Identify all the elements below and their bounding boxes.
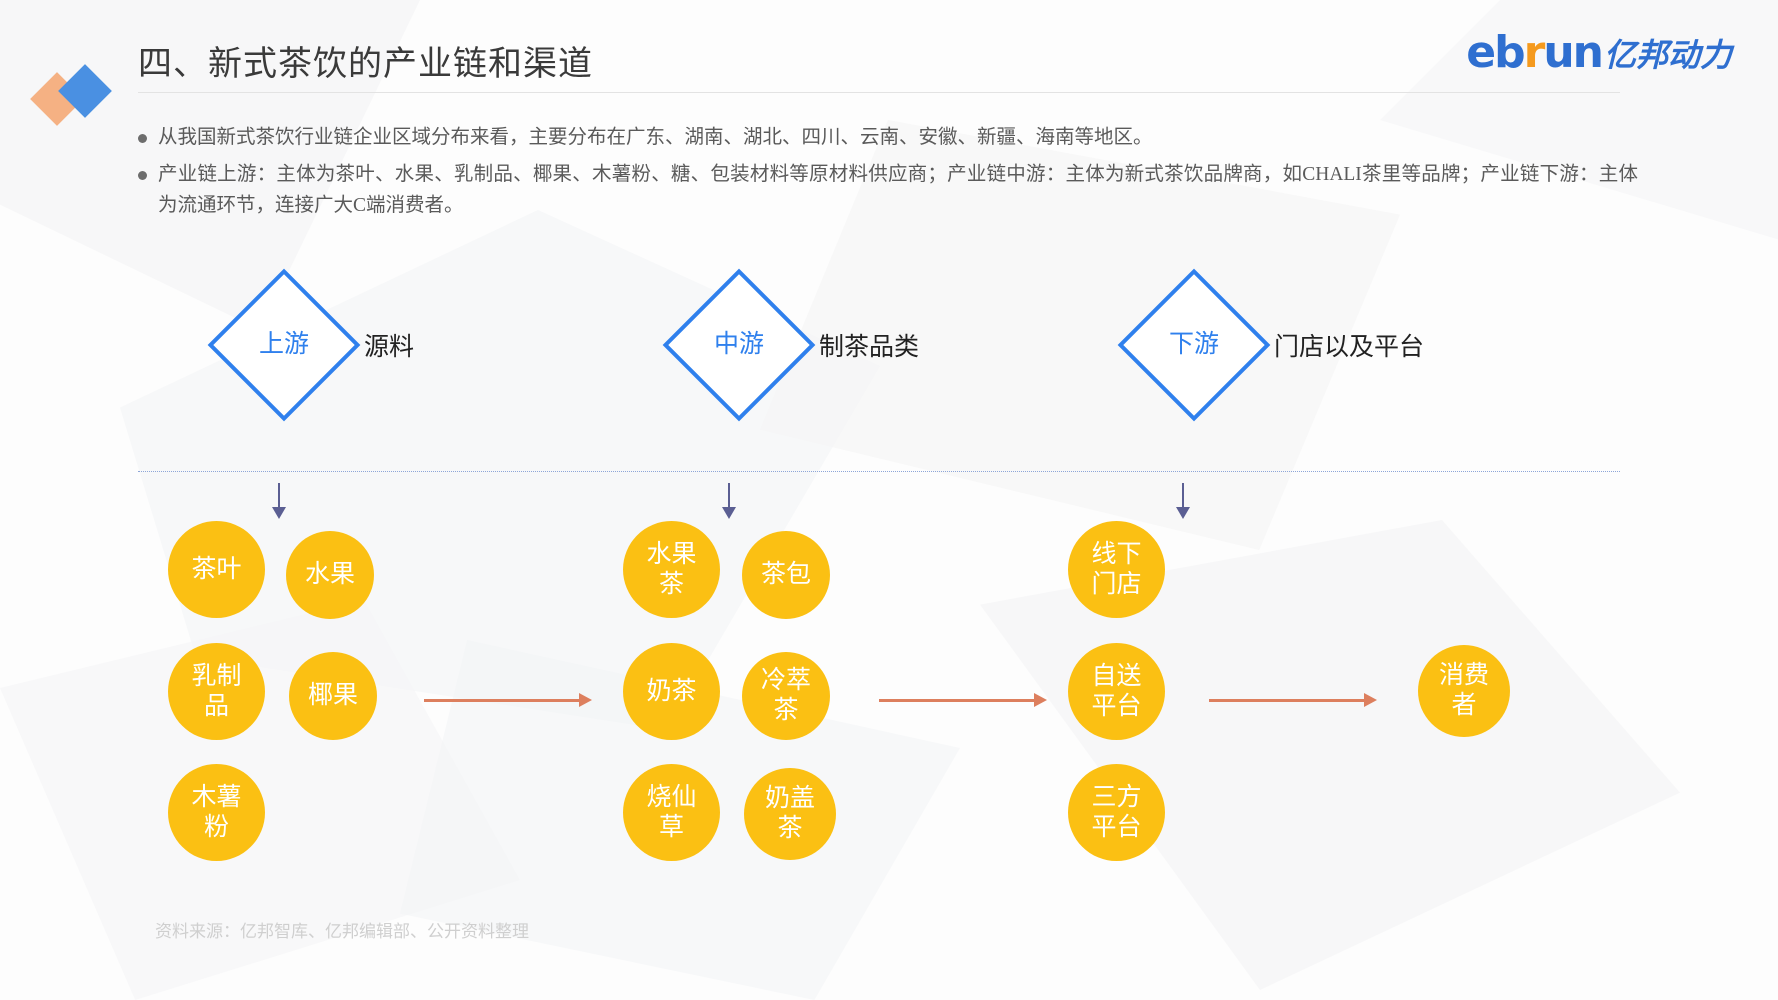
- stage-upstream: 上游 源料: [230, 291, 414, 399]
- list-item: 产业链上游：主体为茶叶、水果、乳制品、椰果、木薯粉、糖、包装材料等原材料供应商；…: [138, 159, 1638, 221]
- node-circle[interactable]: 茶叶: [168, 521, 265, 618]
- node-circle[interactable]: 水果茶: [623, 521, 720, 618]
- node-label: 自送平台: [1080, 662, 1154, 722]
- node-circle[interactable]: 奶茶: [623, 643, 720, 740]
- stage-label-downstream: 门店以及平台: [1274, 327, 1424, 363]
- node-label: 乳制品: [180, 662, 254, 722]
- node-circle[interactable]: 椰果: [289, 652, 377, 740]
- flow-arrow-downstream-to-consumer-icon: [1209, 694, 1377, 706]
- down-arrow-downstream-icon: [1176, 483, 1190, 519]
- node-label: 烧仙草: [635, 783, 709, 843]
- section-divider-dotted: [138, 471, 1620, 472]
- node-label: 三方平台: [1080, 783, 1154, 843]
- diamond-upstream-label: 上游: [239, 330, 329, 360]
- logo-text-un: un: [1543, 31, 1602, 75]
- stage-midstream: 中游 制茶品类: [685, 291, 919, 399]
- node-label: 消费者: [1427, 661, 1501, 721]
- node-label: 线下门店: [1080, 540, 1154, 600]
- node-circle[interactable]: 木薯粉: [168, 764, 265, 861]
- diamond-midstream-label: 中游: [694, 330, 784, 360]
- bullet-list: 从我国新式茶饮行业链企业区域分布来看，主要分布在广东、湖南、湖北、四川、云南、安…: [138, 122, 1638, 227]
- ebrun-logo: eb r un 亿邦动力: [1466, 28, 1732, 78]
- bullet-text: 产业链上游：主体为茶叶、水果、乳制品、椰果、木薯粉、糖、包装材料等原材料供应商；…: [158, 159, 1638, 221]
- diamond-upstream: 上游: [208, 269, 361, 422]
- node-circle[interactable]: 三方平台: [1068, 764, 1165, 861]
- decorative-diamonds: [26, 66, 126, 126]
- logo-text-r: r: [1524, 31, 1544, 75]
- node-circle[interactable]: 乳制品: [168, 643, 265, 740]
- bullet-dot-icon: [138, 171, 147, 180]
- node-label: 木薯粉: [180, 783, 254, 843]
- node-label: 水果: [293, 560, 367, 590]
- node-label: 水果茶: [635, 540, 709, 600]
- node-label: 茶叶: [180, 555, 254, 585]
- stage-downstream: 下游 门店以及平台: [1140, 291, 1424, 399]
- node-label: 奶茶: [635, 677, 709, 707]
- stage-diamond-row: 上游 源料 中游 制茶品类 下游 门店以及平台: [0, 255, 1778, 435]
- title-divider: [138, 92, 1620, 93]
- node-circle[interactable]: 烧仙草: [623, 764, 720, 861]
- down-arrow-midstream-icon: [722, 483, 736, 519]
- node-circle[interactable]: 自送平台: [1068, 643, 1165, 740]
- node-circle[interactable]: 奶盖茶: [744, 768, 836, 860]
- slide-canvas: 四、新式茶饮的产业链和渠道 eb r un 亿邦动力 从我国新式茶饮行业链企业区…: [0, 0, 1778, 1000]
- diamond-downstream: 下游: [1118, 269, 1271, 422]
- node-circle[interactable]: 茶包: [742, 531, 830, 619]
- bullet-dot-icon: [138, 134, 147, 143]
- node-label: 椰果: [296, 681, 370, 711]
- source-note: 资料来源：亿邦智库、亿邦编辑部、公开资料整理: [155, 917, 529, 942]
- node-label: 冷萃茶: [749, 666, 823, 726]
- diamond-downstream-label: 下游: [1149, 330, 1239, 360]
- node-circle[interactable]: 水果: [286, 531, 374, 619]
- node-circle-consumer[interactable]: 消费者: [1418, 645, 1510, 737]
- logo-text-eb: eb: [1466, 31, 1523, 75]
- stage-label-upstream: 源料: [364, 327, 414, 363]
- node-label: 茶包: [749, 560, 823, 590]
- page-title: 四、新式茶饮的产业链和渠道: [138, 36, 593, 85]
- logo-text-cn: 亿邦动力: [1604, 30, 1732, 76]
- down-arrow-upstream-icon: [272, 483, 286, 519]
- diamond-midstream: 中游: [663, 269, 816, 422]
- node-circle[interactable]: 线下门店: [1068, 521, 1165, 618]
- stage-label-midstream: 制茶品类: [819, 327, 919, 363]
- node-circle[interactable]: 冷萃茶: [742, 652, 830, 740]
- flow-arrow-midstream-to-downstream-icon: [879, 694, 1047, 706]
- flow-arrow-upstream-to-midstream-icon: [424, 694, 592, 706]
- node-label: 奶盖茶: [753, 784, 827, 844]
- bullet-text: 从我国新式茶饮行业链企业区域分布来看，主要分布在广东、湖南、湖北、四川、云南、安…: [158, 122, 1153, 153]
- list-item: 从我国新式茶饮行业链企业区域分布来看，主要分布在广东、湖南、湖北、四川、云南、安…: [138, 122, 1638, 153]
